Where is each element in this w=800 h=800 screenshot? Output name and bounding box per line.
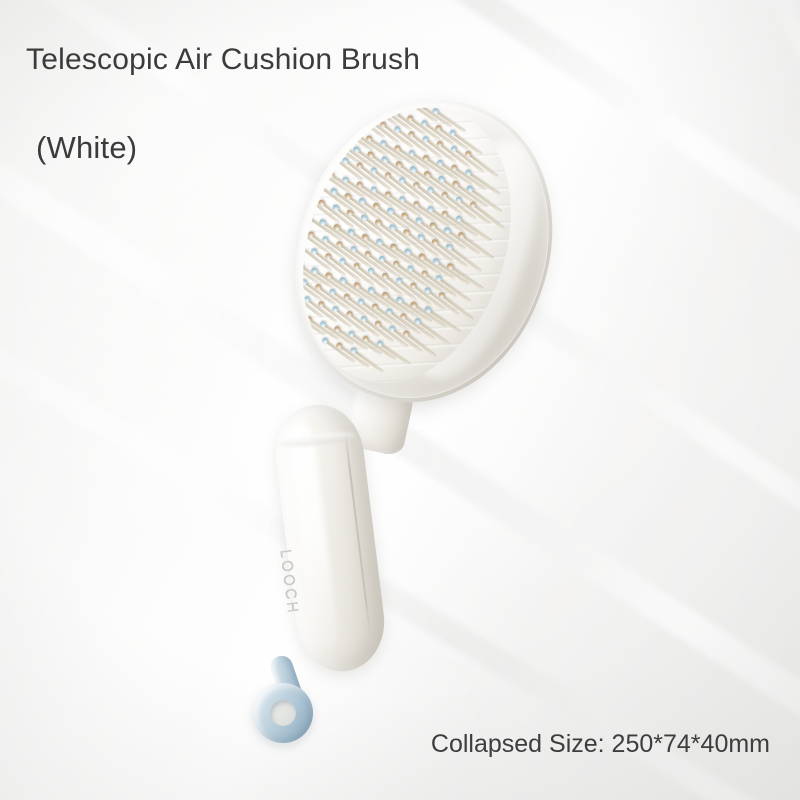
- product-image-canvas: LOOCH Telescopic Air Cushion Brush (Whit…: [0, 0, 800, 800]
- product-variant-label: (White): [36, 130, 137, 166]
- background-vignette: [0, 0, 800, 800]
- page-title: Telescopic Air Cushion Brush: [26, 43, 420, 77]
- collapsed-size-caption: Collapsed Size: 250*74*40mm: [431, 730, 770, 759]
